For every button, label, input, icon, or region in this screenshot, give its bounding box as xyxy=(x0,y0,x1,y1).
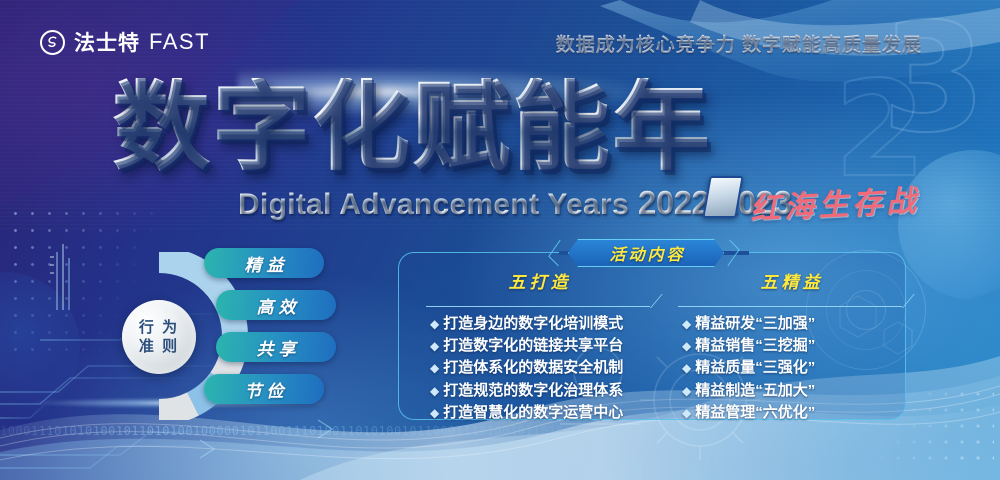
list-item: ◆ 精益研发“三加强” xyxy=(670,313,910,335)
binary-digits-strip: 1000111010101001011010100100000101100111… xyxy=(0,424,620,440)
behavior-pill-gongxiang[interactable]: 共享 xyxy=(216,332,336,362)
list-item-label: 打造智慧化的数字运营中心 xyxy=(443,402,623,424)
list-item: ◆ 精益销售“三挖掘” xyxy=(670,335,910,357)
diamond-bullet-icon: ◆ xyxy=(682,357,691,379)
list-item-label: 精益研发“三加强” xyxy=(695,313,815,335)
brand-logo[interactable]: 法士特 FAST xyxy=(40,27,210,57)
column-title: 五精益 xyxy=(670,268,910,293)
behavior-pill-label: 共享 xyxy=(252,335,301,360)
behavior-core-label: 行 为 准 则 xyxy=(122,300,196,374)
behavior-core-line1: 行 为 xyxy=(139,319,179,336)
diamond-bullet-icon: ◆ xyxy=(682,380,691,402)
behavior-pill-jingyi[interactable]: 精益 xyxy=(204,248,324,278)
list-item: ◆ 打造身边的数字化培训模式 xyxy=(418,313,658,335)
behavior-pill-gaoxiao[interactable]: 高效 xyxy=(216,290,336,320)
column-wu-jing-yi: 五精益 ◆ 精益研发“三加强” ◆ 精益销售“三挖掘” ◆ 精益质量“三强化” … xyxy=(670,268,910,424)
poster-canvas: 3 2 xyxy=(0,0,1000,480)
brush-slogan: 红海生存战 xyxy=(749,176,921,229)
behavior-pill-label: 高效 xyxy=(252,293,301,318)
list-item-label: 打造体系化的数据安全机制 xyxy=(443,357,623,379)
list-item: ◆ 精益质量“三强化” xyxy=(670,357,910,379)
list-item: ◆ 精益制造“五加大” xyxy=(670,380,910,402)
column-underline xyxy=(678,297,902,307)
header-tagline: 数据成为核心竞争力 数字赋能高质量发展 xyxy=(556,30,922,57)
diamond-bullet-icon: ◆ xyxy=(430,313,439,335)
diamond-bullet-icon: ◆ xyxy=(430,380,439,402)
list-item-label: 精益管理“六优化” xyxy=(695,402,815,424)
activity-content-badge-label: 活动内容 xyxy=(606,241,685,265)
fast-swirl-logo-icon xyxy=(40,30,65,55)
behavior-pill-label: 精益 xyxy=(240,251,289,276)
list-item-label: 精益销售“三挖掘” xyxy=(695,335,815,357)
diamond-bullet-icon: ◆ xyxy=(682,402,691,424)
column-wu-da-zao: 五打造 ◆ 打造身边的数字化培训模式 ◆ 打造数字化的链接共享平台 ◆ 打造体系… xyxy=(418,268,658,424)
diamond-bullet-icon: ◆ xyxy=(430,402,439,424)
list-item-label: 精益质量“三强化” xyxy=(695,357,815,379)
column-title: 五打造 xyxy=(418,268,658,293)
behavior-pill-label: 节俭 xyxy=(240,377,289,402)
behavior-pill-list: 精益 高效 共享 节俭 xyxy=(204,248,336,416)
column-underline xyxy=(426,297,650,307)
diamond-bullet-icon: ◆ xyxy=(430,357,439,379)
behavior-pill-jiejian[interactable]: 节俭 xyxy=(204,374,324,404)
subtitle-english: Digital Advancement Years xyxy=(238,188,629,222)
list-item: ◆ 打造智慧化的数字运营中心 xyxy=(418,402,658,424)
activity-content-badge: 活动内容 xyxy=(568,239,724,267)
list-item-label: 打造数字化的链接共享平台 xyxy=(443,335,623,357)
diamond-bullet-icon: ◆ xyxy=(430,335,439,357)
behavior-core-line2: 准 则 xyxy=(139,338,179,355)
brand-name-cn: 法士特 xyxy=(74,27,140,57)
list-item-label: 打造身边的数字化培训模式 xyxy=(443,313,623,335)
diamond-bullet-icon: ◆ xyxy=(682,335,691,357)
brand-name-en: FAST xyxy=(149,29,210,55)
list-item: ◆ 打造规范的数字化治理体系 xyxy=(418,380,658,402)
list-item: ◆ 精益管理“六优化” xyxy=(670,402,910,424)
list-item: ◆ 打造体系化的数据安全机制 xyxy=(418,357,658,379)
diamond-bullet-icon: ◆ xyxy=(682,313,691,335)
list-item-label: 精益制造“五加大” xyxy=(695,380,815,402)
list-item: ◆ 打造数字化的链接共享平台 xyxy=(418,335,658,357)
list-item-label: 打造规范的数字化治理体系 xyxy=(443,380,623,402)
page-title: 数字化赋能年 xyxy=(112,78,712,176)
